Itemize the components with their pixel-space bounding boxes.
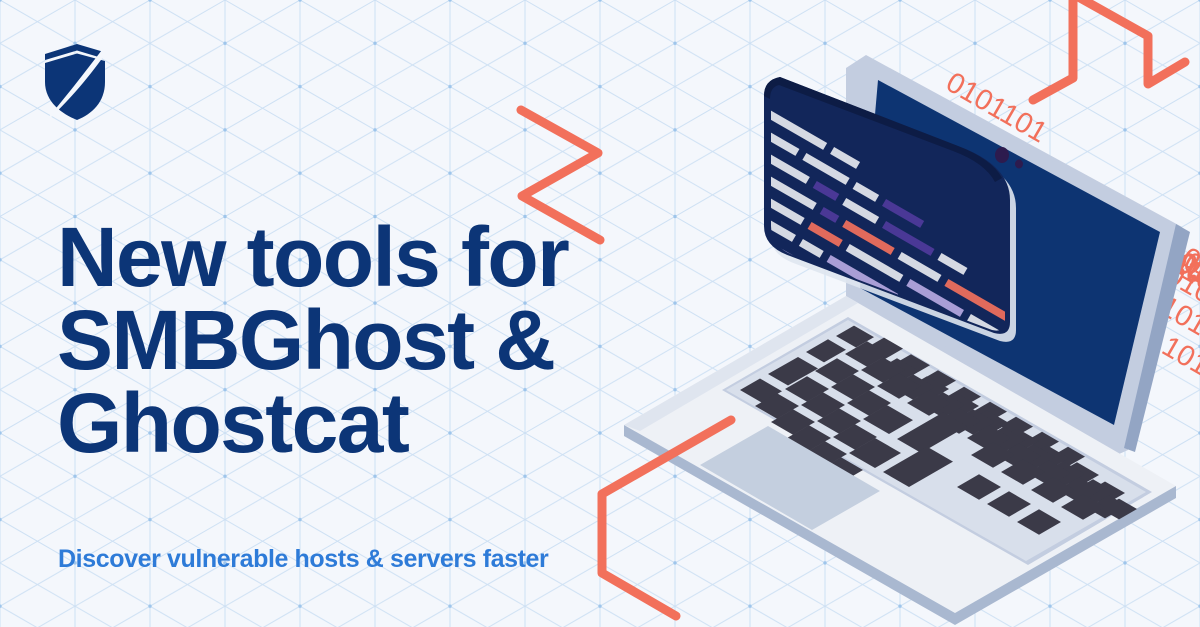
headline-line-2: SMBGhost & [57, 299, 677, 382]
shield-logo[interactable] [42, 44, 112, 122]
headline: New tools for SMBGhost & Ghostcat [57, 216, 677, 465]
subtitle: Discover vulnerable hosts & servers fast… [58, 545, 548, 574]
headline-line-3: Ghostcat [57, 382, 677, 465]
headline-line-1: New tools for [57, 216, 677, 299]
promo-banner: New tools for SMBGhost & Ghostcat Discov… [0, 0, 1200, 627]
